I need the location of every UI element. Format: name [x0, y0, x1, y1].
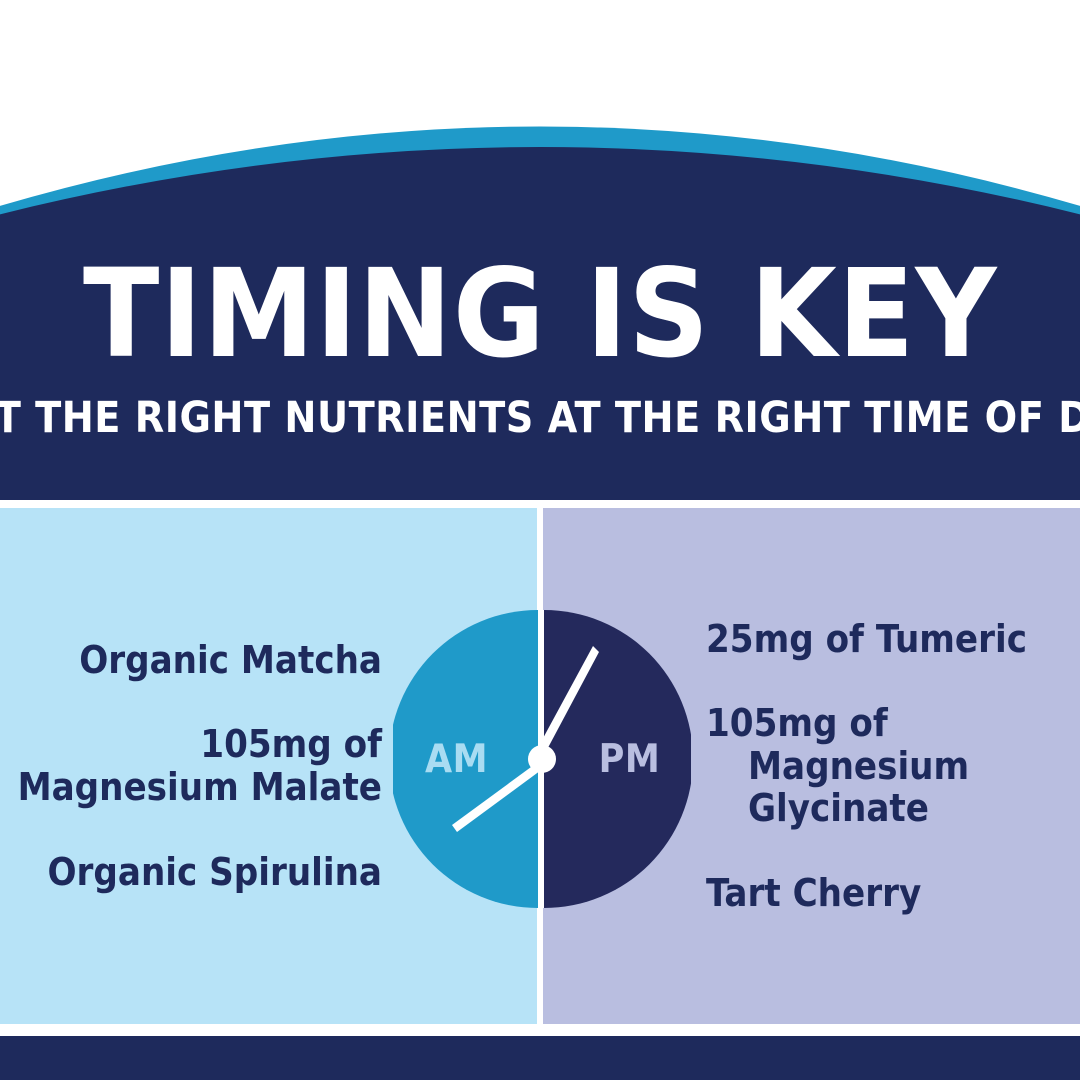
- pm-item-tumeric-line1: 25mg of Tumeric: [706, 617, 1027, 661]
- am-ingredient-list: Organic Matcha 105mg of Magnesium Malate…: [0, 508, 400, 1024]
- header-arc-navy: [0, 147, 1080, 500]
- am-item-matcha-line1: Organic Matcha: [79, 638, 382, 682]
- footer-bar: [0, 1036, 1080, 1080]
- am-item-magnesium-line2: Magnesium Malate: [18, 766, 382, 809]
- pm-item-magnesium-line1: 105mg of: [706, 701, 888, 745]
- pm-list-item-magnesium: 105mg of Magnesium Glycinate: [706, 702, 1080, 830]
- am-item-magnesium-line1: 105mg of: [200, 722, 382, 766]
- am-list-item-magnesium: 105mg of Magnesium Malate: [18, 723, 382, 808]
- header-arch-banner: [0, 0, 1080, 500]
- pm-list-item-tart-cherry: Tart Cherry: [706, 872, 921, 915]
- clock-am-label: AM: [393, 610, 542, 908]
- am-list-item-spirulina: Organic Spirulina: [47, 851, 382, 894]
- infographic-canvas: TIMING IS KEY GET THE RIGHT NUTRIENTS AT…: [0, 0, 1080, 1080]
- pm-item-tart-cherry-line1: Tart Cherry: [706, 871, 921, 915]
- am-item-spirulina-line1: Organic Spirulina: [47, 850, 382, 894]
- am-list-item-matcha: Organic Matcha: [79, 639, 382, 682]
- pm-item-magnesium-line2: Magnesium Glycinate: [706, 745, 1080, 830]
- clock-pm-label: PM: [542, 610, 691, 908]
- pm-list-item-tumeric: 25mg of Tumeric: [706, 618, 1027, 661]
- pm-ingredient-list: 25mg of Tumeric 105mg of Magnesium Glyci…: [686, 508, 1080, 1024]
